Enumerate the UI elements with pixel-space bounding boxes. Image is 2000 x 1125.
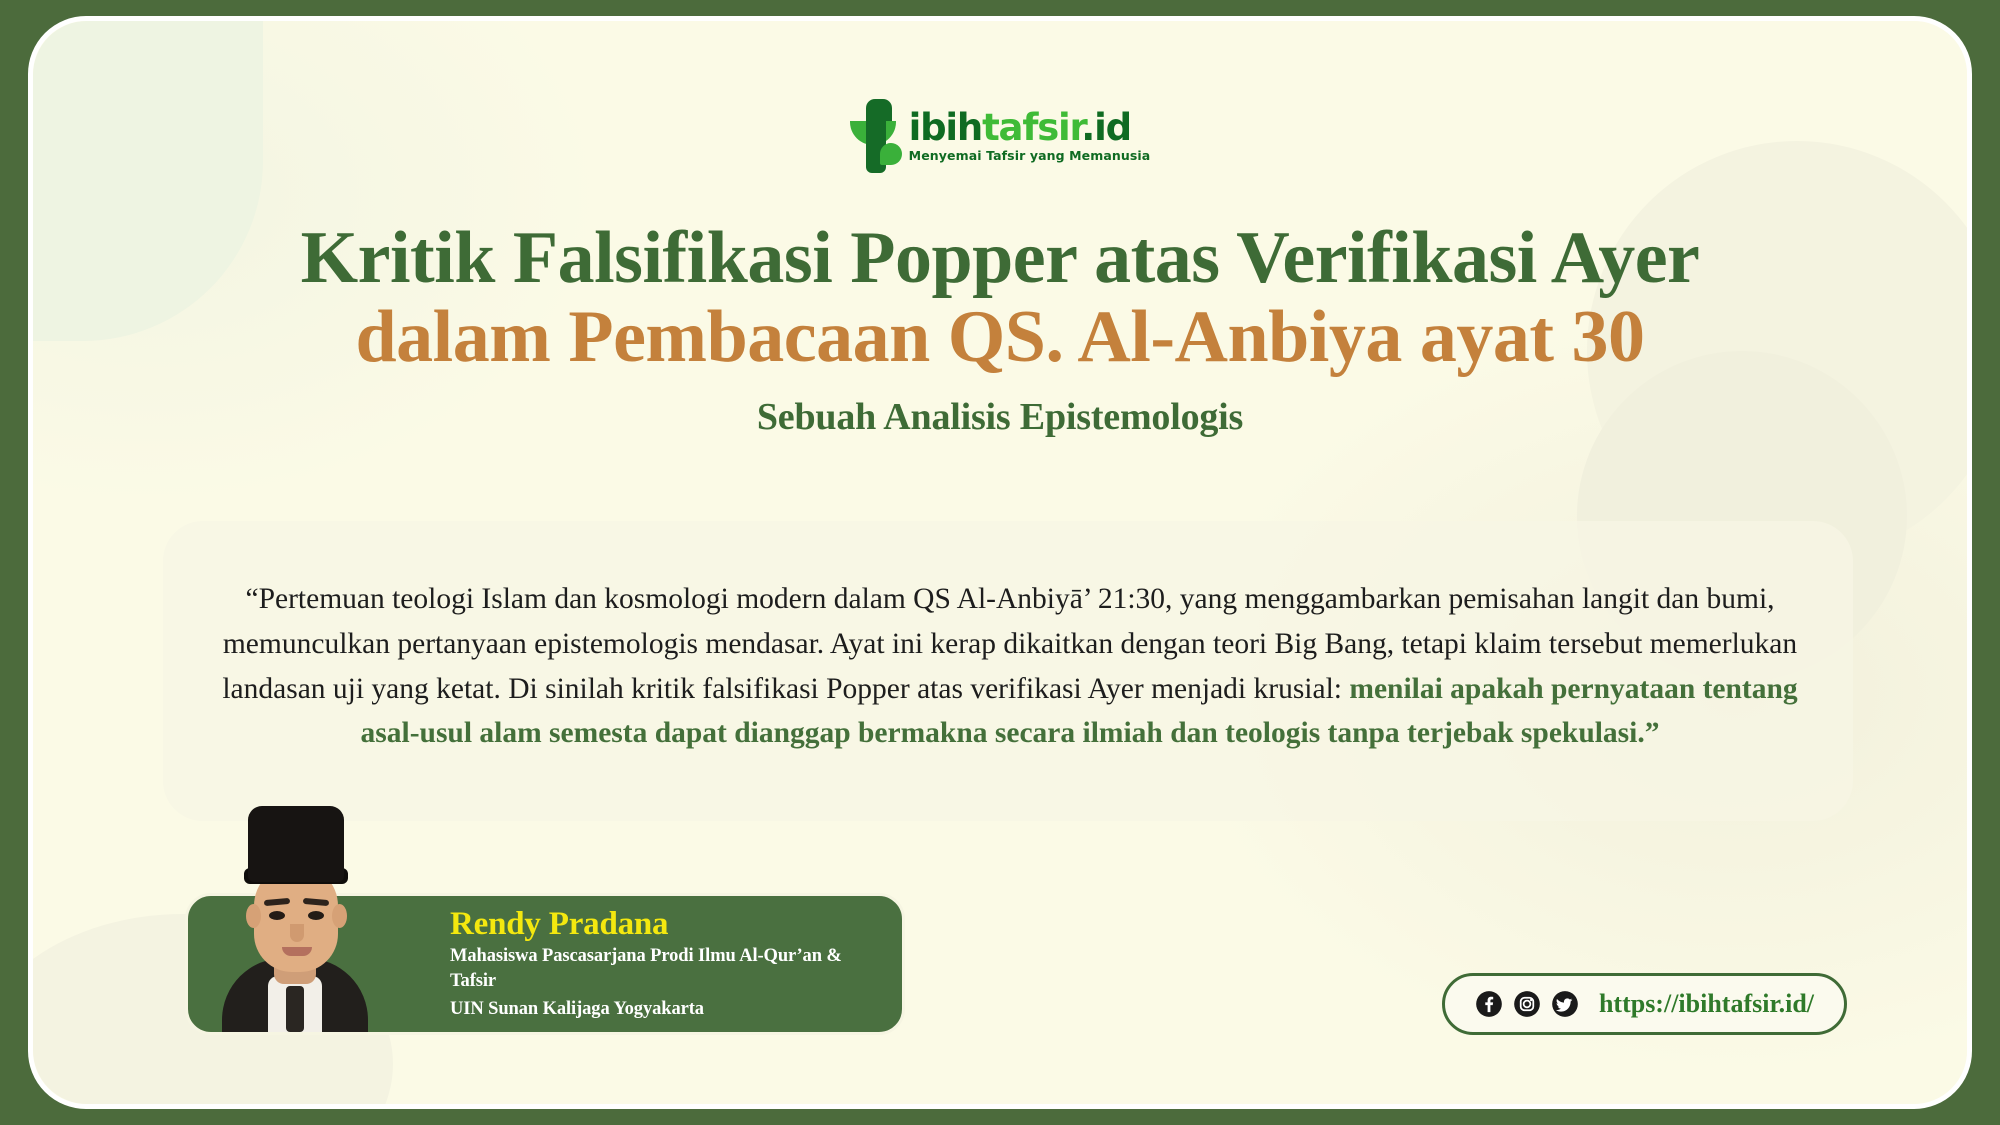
brand-tagline: Menyemai Tafsir yang Memanusia (909, 148, 1151, 163)
title-block: Kritik Falsifikasi Popper atas Verifikas… (33, 219, 1967, 439)
website-url-link[interactable]: https://ibihtafsir.id/ (1599, 989, 1814, 1019)
facebook-icon[interactable] (1475, 990, 1503, 1018)
brand-wordmark-part2: tafsir (982, 106, 1081, 149)
brand-wordmark-part1: ibih (909, 106, 982, 149)
brand-logo[interactable]: ibihtafsir.id Menyemai Tafsir yang Meman… (850, 99, 1151, 173)
brand-header: ibihtafsir.id Menyemai Tafsir yang Meman… (33, 99, 1967, 173)
instagram-icon[interactable] (1513, 990, 1541, 1018)
page-subtitle: Sebuah Analisis Epistemologis (33, 395, 1967, 439)
author-info: Rendy Pradana Mahasiswa Pascasarjana Pro… (450, 906, 902, 1023)
quote-card: “Pertemuan teologi Islam dan kosmologi m… (165, 549, 1855, 778)
seedling-logo-icon (850, 99, 900, 173)
author-portrait-avatar (216, 802, 374, 1032)
poster-canvas: ibihtafsir.id Menyemai Tafsir yang Meman… (33, 21, 1967, 1104)
poster-frame: ibihtafsir.id Menyemai Tafsir yang Meman… (28, 16, 1972, 1109)
author-name: Rendy Pradana (450, 906, 884, 942)
brand-wordmark-part3: .id (1081, 106, 1131, 149)
author-affiliation-line-1: Mahasiswa Pascasarjana Prodi Ilmu Al-Qur… (450, 944, 884, 995)
brand-wordmark: ibihtafsir.id (909, 109, 1131, 146)
brand-logo-text: ibihtafsir.id Menyemai Tafsir yang Meman… (909, 109, 1151, 163)
author-card: Rendy Pradana Mahasiswa Pascasarjana Pro… (185, 893, 905, 1035)
social-links-pill[interactable]: https://ibihtafsir.id/ (1442, 973, 1847, 1035)
twitter-icon[interactable] (1551, 990, 1579, 1018)
page-title-line-2: dalam Pembacaan QS. Al-Anbiya ayat 30 (33, 298, 1967, 377)
author-affiliation-line-2: UIN Sunan Kalijaga Yogyakarta (450, 997, 884, 1023)
quote-text: “Pertemuan teologi Islam dan kosmologi m… (199, 577, 1821, 756)
page-title-line-1: Kritik Falsifikasi Popper atas Verifikas… (33, 219, 1967, 298)
